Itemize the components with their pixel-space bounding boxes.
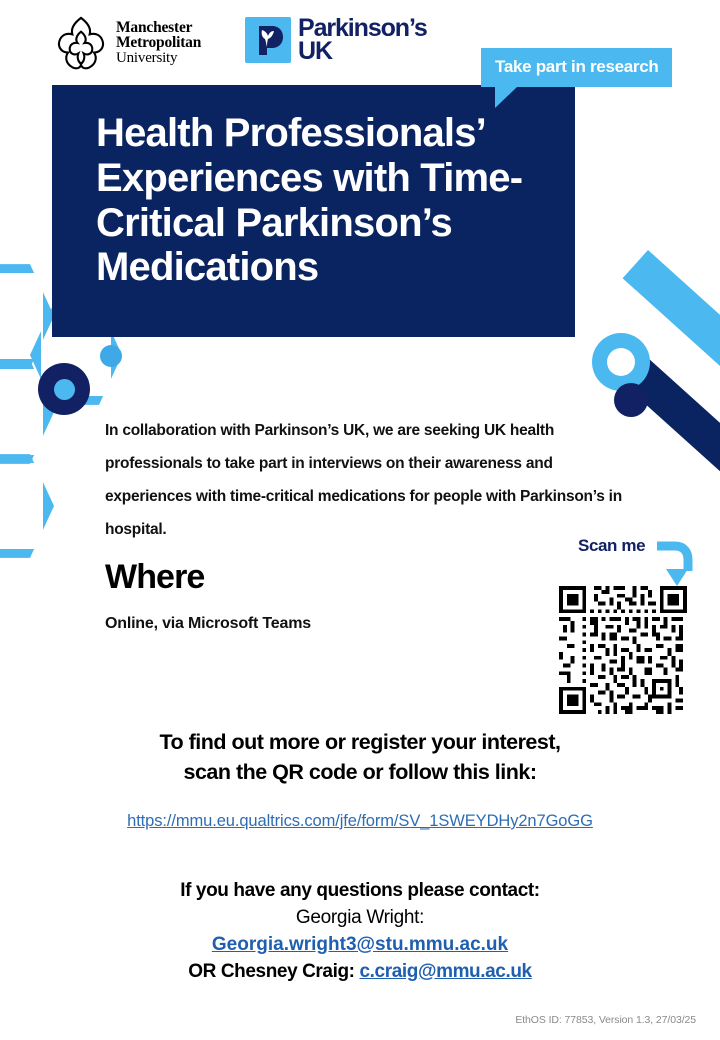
contact-block: If you have any questions please contact… [0,878,720,986]
cta-line-2: scan the QR code or follow this link: [0,758,720,788]
survey-link-row: https://mmu.eu.qualtrics.com/jfe/form/SV… [0,812,720,831]
curved-down-arrow-icon [655,538,695,590]
mmu-trefoil-mark [55,14,107,72]
contact-email-1-row: Georgia.wright3@stu.mmu.ac.uk [0,932,720,959]
mmu-wordmark: Manchester Metropolitan University [116,20,201,67]
parkinsons-uk-logo: Parkinson’s UK [245,17,427,63]
title-block: Health Professionals’ Experiences with T… [52,85,575,337]
contact-email-1[interactable]: Georgia.wright3@stu.mmu.ac.uk [212,934,508,955]
contact-email-2[interactable]: c.craig@mmu.ac.uk [359,961,531,982]
where-body: Online, via Microsoft Teams [105,615,311,633]
contact-prompt: If you have any questions please contact… [0,878,720,905]
contact-name: Georgia Wright: [0,905,720,932]
mmu-line-1: Manchester [116,20,201,36]
intro-paragraph: In collaboration with Parkinson’s UK, we… [105,415,625,546]
parkinsons-uk-wordmark: Parkinson’s UK [298,17,427,63]
mmu-logo: Manchester Metropolitan University [55,14,201,72]
ethos-footer: EthOS ID: 77853, Version 1.3, 27/03/25 [515,1014,696,1026]
parkinsons-tulip-mark [245,17,291,63]
cta-heading: To find out more or register your intere… [0,728,720,787]
banner-tail [495,87,517,108]
contact-email-2-row: OR Chesney Craig: c.craig@mmu.ac.uk [0,959,720,986]
cta-line-1: To find out more or register your intere… [0,728,720,758]
survey-link[interactable]: https://mmu.eu.qualtrics.com/jfe/form/SV… [127,812,593,830]
take-part-banner-label: Take part in research [481,48,672,87]
puk-line-2: UK [298,40,427,63]
tulip-glyph [245,17,291,63]
light-blue-dot-in-navy-ring [54,379,75,400]
poster-canvas: Manchester Metropolitan University Parki… [0,0,720,1040]
scan-me-label: Scan me [578,536,645,556]
qr-code[interactable] [558,586,688,714]
light-blue-dot-left [100,345,122,367]
mmu-line-2: Metropolitan [116,35,201,51]
contact-or-prefix: OR Chesney Craig: [188,961,359,982]
where-heading: Where [105,558,204,597]
hexagon-outline-left-3 [0,452,54,560]
white-center-of-ring [607,348,635,376]
page-title: Health Professionals’ Experiences with T… [96,111,566,290]
take-part-banner: Take part in research [481,48,672,108]
navy-dot-right [614,383,648,417]
mmu-line-3: University [116,51,201,66]
